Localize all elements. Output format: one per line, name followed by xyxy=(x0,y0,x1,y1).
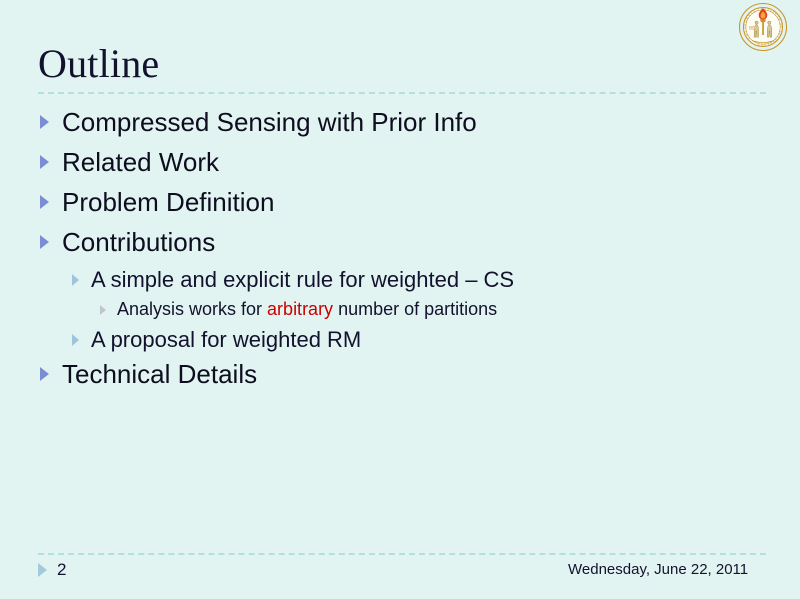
triangle-bullet-icon xyxy=(40,115,49,129)
footer-divider xyxy=(38,553,766,555)
title-divider xyxy=(38,92,766,94)
list-item[interactable]: Problem Definition xyxy=(38,186,768,218)
list-item-label: Problem Definition xyxy=(62,186,274,218)
triangle-bullet-icon xyxy=(40,367,49,381)
outline-list: Compressed Sensing with Prior Info Relat… xyxy=(38,106,768,398)
list-item[interactable]: Contributions xyxy=(38,226,768,258)
seal-year: 1891 xyxy=(750,28,754,30)
list-item-label: Related Work xyxy=(62,146,219,178)
caltech-seal-icon: C A L I F O R N I A I N S T I T U T E O xyxy=(738,2,788,52)
triangle-bullet-icon xyxy=(40,195,49,209)
list-item-label: A proposal for weighted RM xyxy=(91,326,361,353)
triangle-bullet-icon xyxy=(100,305,106,315)
slide-number-group: 2 xyxy=(38,560,66,579)
caltech-seal-logo: C A L I F O R N I A I N S T I T U T E O xyxy=(738,2,788,52)
list-item[interactable]: A simple and explicit rule for weighted … xyxy=(70,266,768,293)
highlighted-term: arbitrary xyxy=(267,299,333,319)
list-item-text-before: Analysis works for xyxy=(117,299,267,319)
list-item-label: Compressed Sensing with Prior Info xyxy=(62,106,477,138)
list-item-label: Analysis works for arbitrary number of p… xyxy=(117,298,497,321)
list-item-label: A simple and explicit rule for weighted … xyxy=(91,266,514,293)
list-item[interactable]: Related Work xyxy=(38,146,768,178)
triangle-bullet-icon xyxy=(40,155,49,169)
slide-number: 2 xyxy=(57,560,66,579)
list-item-label: Contributions xyxy=(62,226,215,258)
list-item[interactable]: A proposal for weighted RM xyxy=(70,326,768,353)
list-item-text-after: number of partitions xyxy=(333,299,497,319)
svg-text:I: I xyxy=(743,27,747,28)
page-title: Outline xyxy=(38,42,159,86)
list-item[interactable]: Analysis works for arbitrary number of p… xyxy=(98,298,768,321)
footer-date: Wednesday, June 22, 2011 xyxy=(568,560,768,579)
list-item[interactable]: Technical Details xyxy=(38,358,768,390)
triangle-bullet-icon xyxy=(72,274,79,286)
triangle-bullet-icon xyxy=(38,563,47,577)
triangle-bullet-icon xyxy=(40,235,49,249)
triangle-bullet-icon xyxy=(72,334,79,346)
list-item[interactable]: Compressed Sensing with Prior Info xyxy=(38,106,768,138)
list-item-label: Technical Details xyxy=(62,358,257,390)
svg-text:F: F xyxy=(779,26,783,28)
slide-canvas: C A L I F O R N I A I N S T I T U T E O xyxy=(0,0,800,599)
